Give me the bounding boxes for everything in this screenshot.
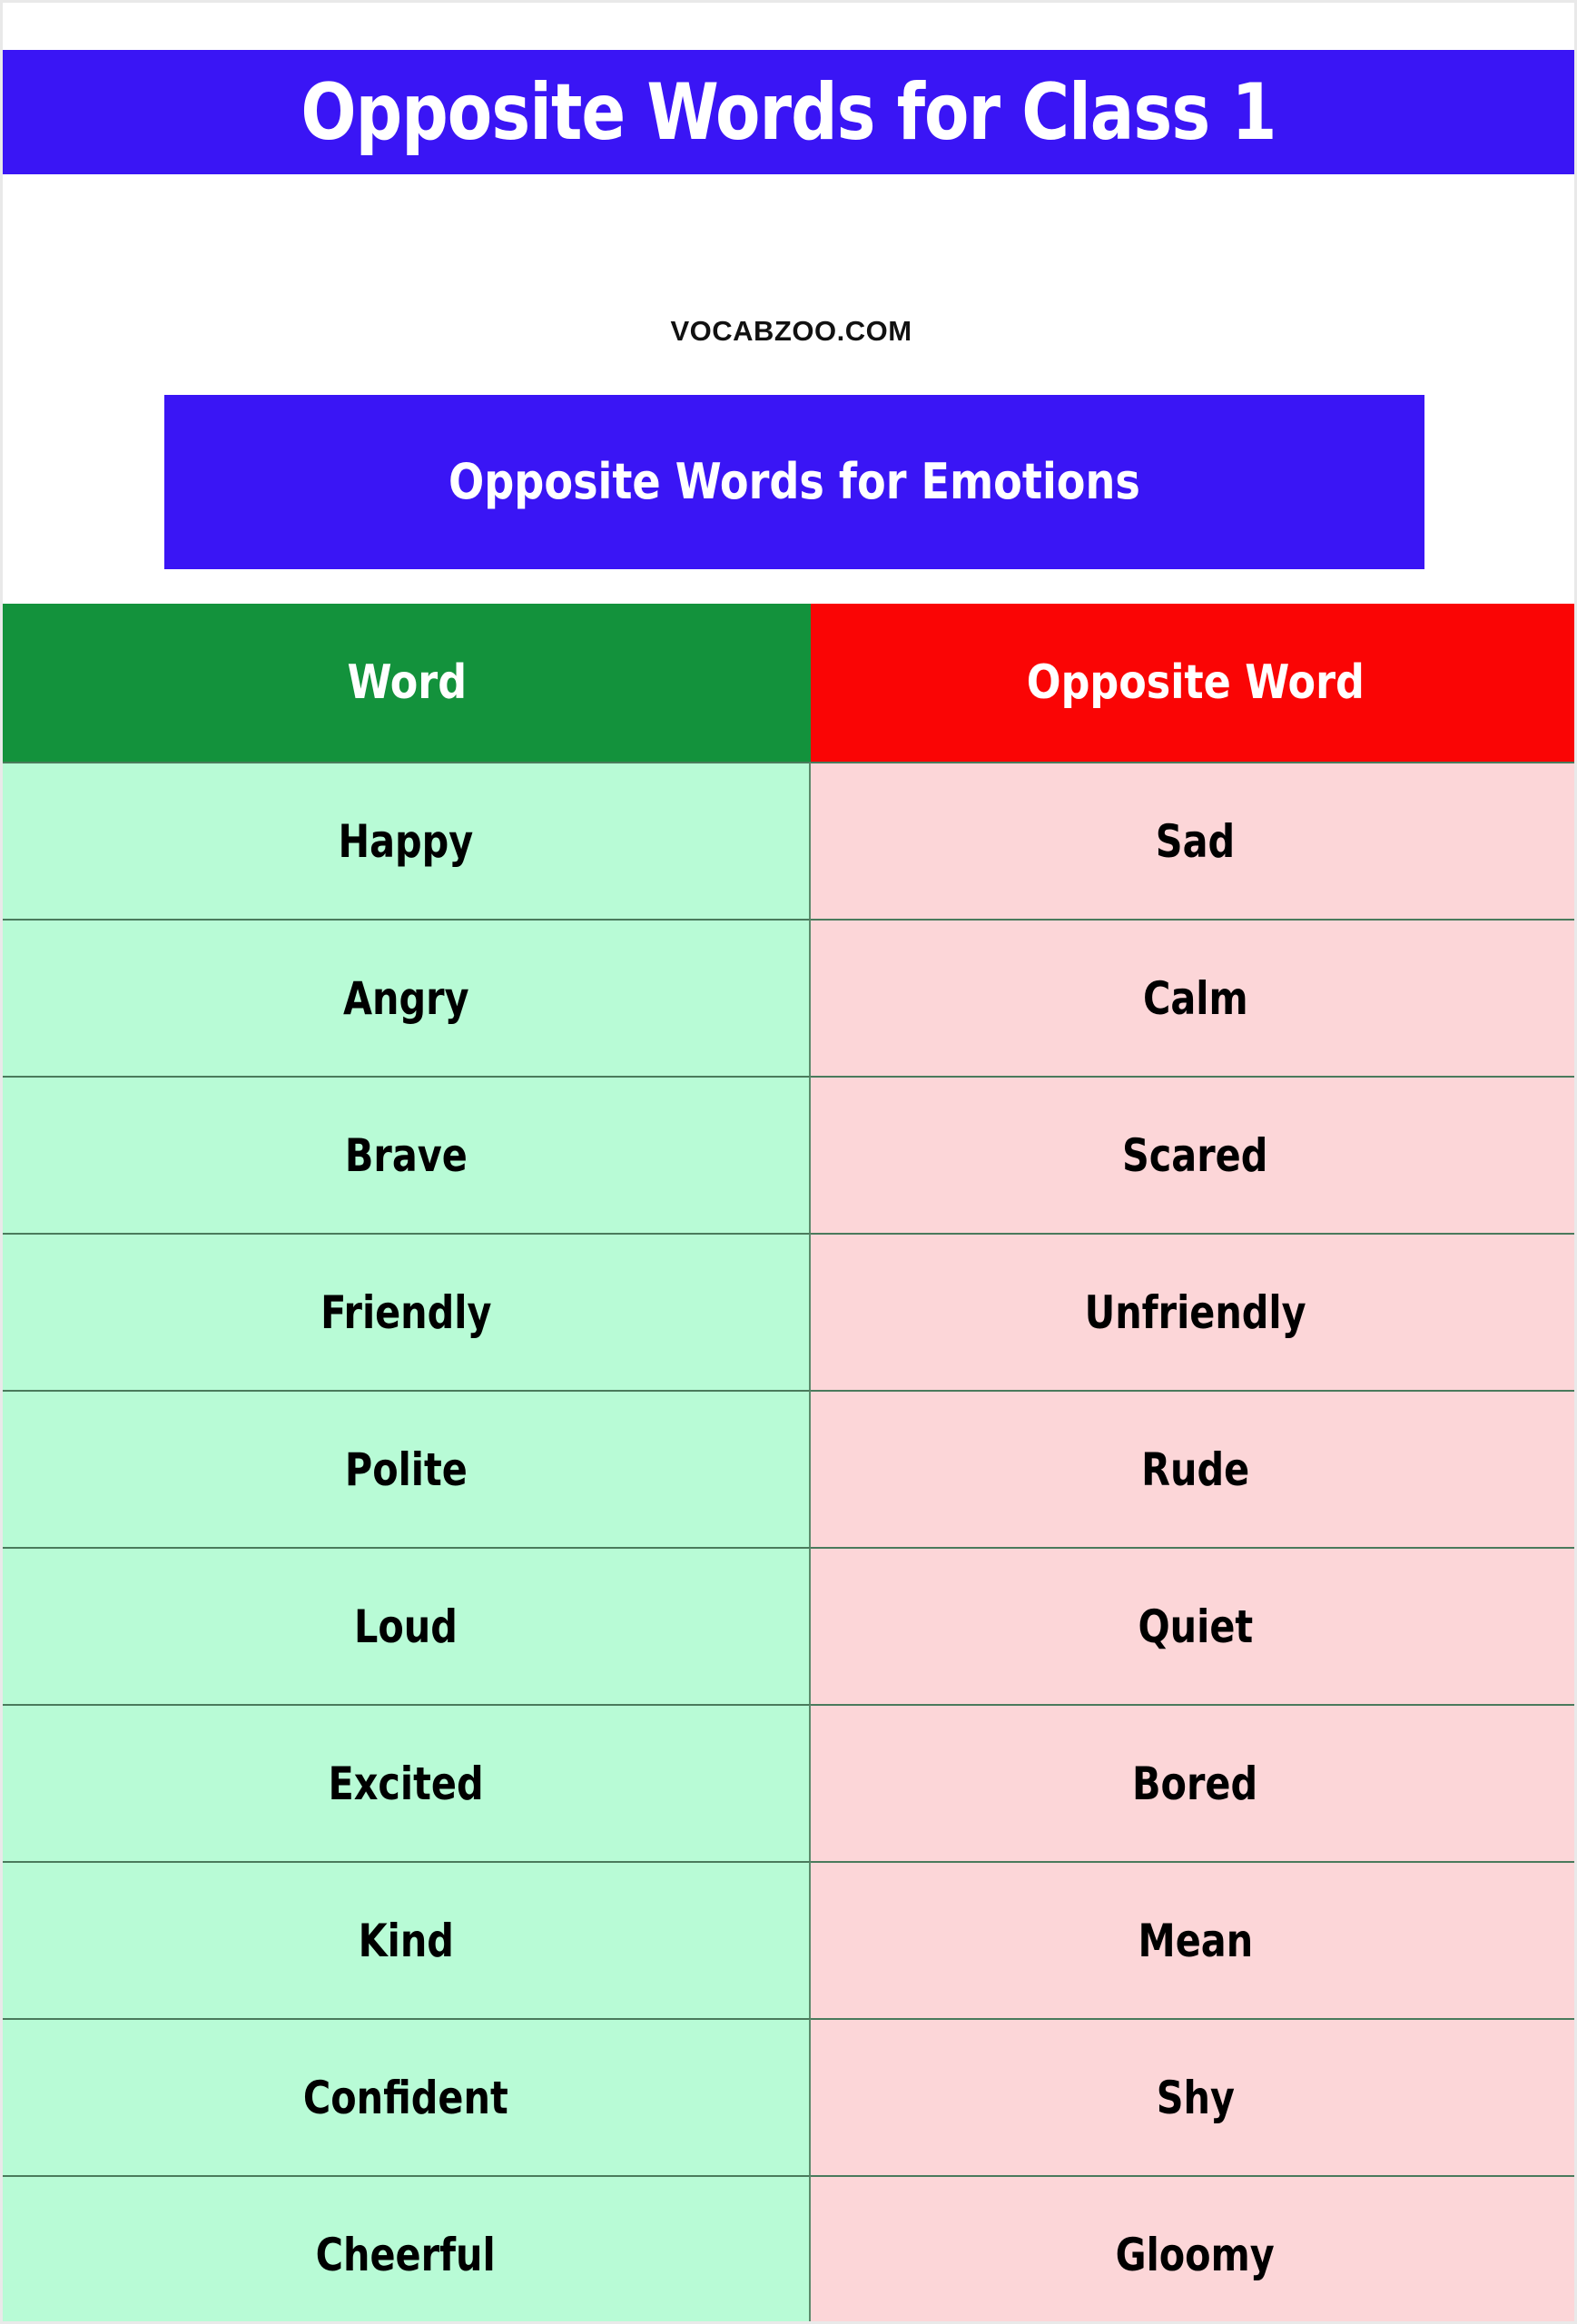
table-row: Kind Mean — [3, 1861, 1577, 2018]
table-row: Cheerful Gloomy — [3, 2175, 1577, 2324]
opposite-text: Bored — [1132, 1758, 1257, 1810]
word-cell: Confident — [3, 2018, 811, 2175]
opposite-cell: Gloomy — [811, 2175, 1577, 2324]
word-text: Happy — [339, 815, 474, 868]
word-text: Kind — [358, 1915, 453, 1967]
opposite-text: Mean — [1138, 1915, 1253, 1967]
word-cell: Loud — [3, 1547, 811, 1704]
section-title-banner: Opposite Words for Emotions — [164, 395, 1424, 569]
word-cell: Angry — [3, 919, 811, 1076]
word-text: Loud — [354, 1600, 458, 1653]
word-cell: Happy — [3, 762, 811, 919]
opposite-cell: Rude — [811, 1390, 1577, 1547]
site-name: VOCABZOO.COM — [3, 315, 1577, 348]
column-header-word: Word — [3, 604, 811, 762]
opposite-cell: Quiet — [811, 1547, 1577, 1704]
opposite-words-table: Word Opposite Word Happy Sad Angry Calm — [3, 604, 1577, 2324]
opposite-cell: Mean — [811, 1861, 1577, 2018]
table-row: Angry Calm — [3, 919, 1577, 1076]
word-text: Polite — [345, 1443, 468, 1496]
opposite-cell: Scared — [811, 1076, 1577, 1233]
opposite-text: Rude — [1141, 1443, 1249, 1496]
opposite-text: Quiet — [1138, 1600, 1253, 1653]
table-row: Confident Shy — [3, 2018, 1577, 2175]
word-cell: Cheerful — [3, 2175, 811, 2324]
opposite-cell: Shy — [811, 2018, 1577, 2175]
opposite-text: Shy — [1156, 2072, 1234, 2124]
word-cell: Polite — [3, 1390, 811, 1547]
opposite-cell: Sad — [811, 762, 1577, 919]
opposite-cell: Bored — [811, 1704, 1577, 1861]
word-cell: Excited — [3, 1704, 811, 1861]
word-text: Confident — [303, 2072, 508, 2124]
word-cell: Brave — [3, 1076, 811, 1233]
word-text: Friendly — [320, 1286, 491, 1339]
opposite-text: Unfriendly — [1085, 1286, 1306, 1339]
table-row: Polite Rude — [3, 1390, 1577, 1547]
table-row: Loud Quiet — [3, 1547, 1577, 1704]
opposite-text: Sad — [1156, 815, 1235, 868]
word-text: Brave — [345, 1129, 468, 1182]
table-row: Friendly Unfriendly — [3, 1233, 1577, 1390]
opposite-cell: Calm — [811, 919, 1577, 1076]
infographic-page: Opposite Words for Class 1 VOCABZOO.COM … — [0, 0, 1577, 2324]
column-header-word-label: Word — [347, 655, 467, 710]
word-text: Excited — [328, 1758, 483, 1810]
page-title: Opposite Words for Class 1 — [301, 74, 1276, 152]
table-header-row: Word Opposite Word — [3, 604, 1577, 762]
column-header-opposite-word: Opposite Word — [811, 604, 1577, 762]
table-row: Brave Scared — [3, 1076, 1577, 1233]
opposite-text: Gloomy — [1116, 2229, 1275, 2281]
opposite-text: Calm — [1143, 972, 1248, 1025]
word-text: Cheerful — [316, 2229, 496, 2281]
word-cell: Friendly — [3, 1233, 811, 1390]
section-title: Opposite Words for Emotions — [448, 458, 1140, 507]
table-row: Happy Sad — [3, 762, 1577, 919]
opposite-cell: Unfriendly — [811, 1233, 1577, 1390]
word-cell: Kind — [3, 1861, 811, 2018]
column-header-opposite-word-label: Opposite Word — [1026, 655, 1364, 710]
opposite-text: Scared — [1122, 1129, 1267, 1182]
main-title-banner: Opposite Words for Class 1 — [3, 50, 1574, 174]
table-row: Excited Bored — [3, 1704, 1577, 1861]
word-text: Angry — [343, 972, 469, 1025]
